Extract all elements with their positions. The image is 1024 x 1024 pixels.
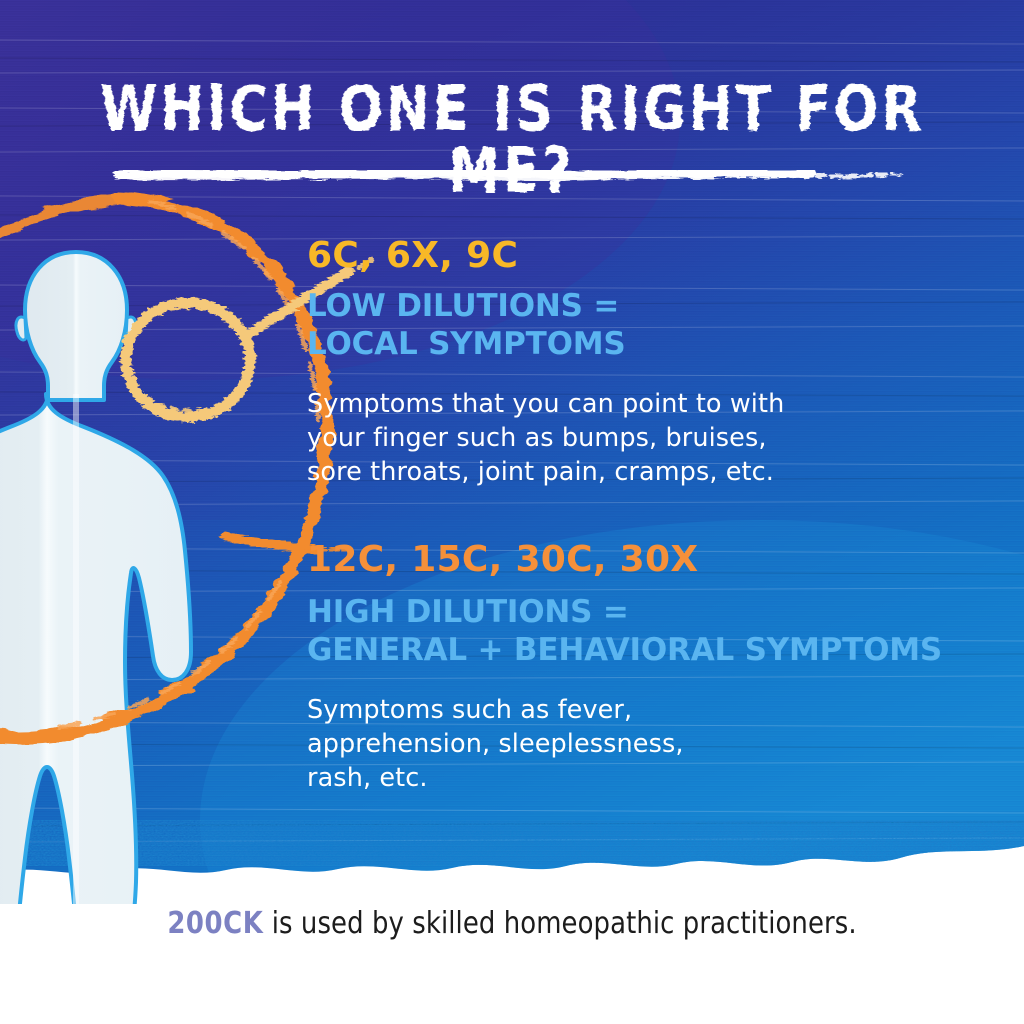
body-high-dilutions: Symptoms such as fever, apprehension, sl… [307,694,684,796]
footer-note: 200CK is used by skilled homeopathic pra… [20,906,1003,941]
footer-text: is used by skilled homeopathic practitio… [263,906,856,941]
footer-highlight: 200CK [167,906,263,941]
body-low-dilutions: Symptoms that you can point to with your… [307,388,784,490]
infographic-poster: WHICH ONE IS RIGHT FOR ME? [0,0,1024,1024]
dose-low-dilutions: 6C, 6X, 9C [307,238,518,275]
dose-high-dilutions: 12C, 15C, 30C, 30X [307,542,698,579]
subhead-high-dilutions: HIGH DILUTIONS = GENERAL + BEHAVIORAL SY… [307,594,942,670]
subhead-low-dilutions: LOW DILUTIONS = LOCAL SYMPTOMS [307,288,626,364]
